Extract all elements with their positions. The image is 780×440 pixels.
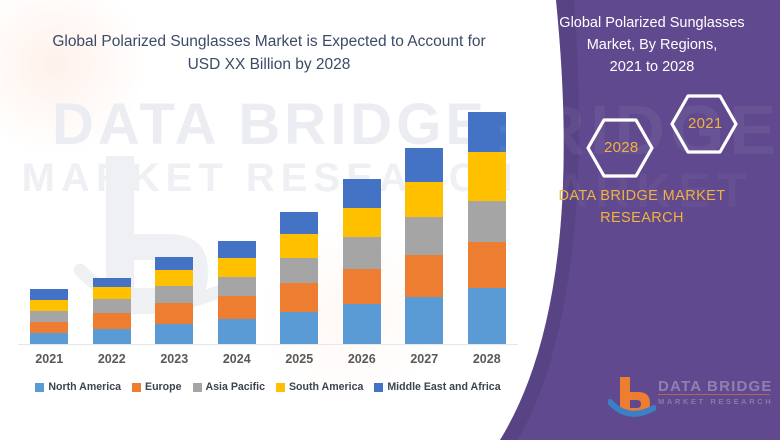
bar-column-2025 [268,212,330,344]
bar-segment [405,148,443,182]
chart-title: Global Polarized Sunglasses Market is Ex… [30,30,508,76]
bar-segment [343,304,381,344]
dbmr-logo-mark-icon [608,374,656,420]
bar-column-2022 [81,278,143,344]
hexagon-badge-group: 2021 2028 [530,92,770,182]
x-axis-tick-2021: 2021 [18,352,80,366]
bar-segment [155,270,193,286]
x-axis-tick-2027: 2027 [393,352,455,366]
legend-label: Europe [145,381,182,393]
footer-logo-divider [658,394,770,395]
bar-segment [343,208,381,237]
bar-column-2024 [206,241,268,344]
legend-label: South America [289,381,363,393]
legend-item[interactable]: South America [276,381,363,393]
bar-segment [155,286,193,303]
x-axis-tick-2024: 2024 [206,352,268,366]
legend-label: Asia Pacific [206,381,265,393]
plot-area [18,95,518,345]
x-axis-tick-2022: 2022 [81,352,143,366]
bar-segment [30,333,68,344]
chart-panel: DATA BRIDGE MARKET RESEARCH Global Polar… [0,0,540,440]
bar-segment [280,312,318,344]
bar-segment [30,322,68,333]
footer-logo-text: DATA BRIDGE [658,378,773,395]
bar-segment [280,258,318,283]
bar-column-2026 [331,179,393,344]
stacked-bar [218,241,256,344]
side-panel-title-line2: Market, By Regions, [536,34,768,56]
bar-segment [93,299,131,313]
bar-segment [30,311,68,322]
chart-title-line2: USD XX Billion by 2028 [30,53,508,76]
x-axis-labels: 20212022202320242025202620272028 [18,349,518,369]
chart-legend: North AmericaEuropeAsia PacificSouth Ame… [18,378,518,396]
bar-segment [280,212,318,234]
legend-swatch-icon [193,383,202,392]
bar-segment [30,300,68,311]
stacked-bar [280,212,318,344]
bar-segment [218,258,256,277]
bar-segment [405,255,443,297]
hexagon-badge-shapes-icon [530,92,770,182]
bar-segment [93,313,131,329]
legend-item[interactable]: North America [35,381,121,393]
stacked-bar [30,289,68,344]
legend-item[interactable]: Europe [132,381,182,393]
chart-title-line1: Global Polarized Sunglasses Market is Ex… [30,30,508,53]
stacked-bar [405,148,443,344]
bar-segment [155,303,193,324]
legend-swatch-icon [35,383,44,392]
bar-segment [405,217,443,255]
legend-label: North America [48,381,121,393]
side-panel-content: BRIDGE MARKET Global Polarized Sunglasse… [500,0,780,440]
infographic-root: DATA BRIDGE MARKET RESEARCH Global Polar… [0,0,780,440]
bar-segment [405,297,443,344]
bar-column-2027 [393,148,455,344]
bar-segment [218,277,256,296]
brand-name-line2: RESEARCH [520,207,764,229]
bar-segment [93,287,131,299]
bar-segment [155,324,193,344]
side-panel: BRIDGE MARKET Global Polarized Sunglasse… [500,0,780,440]
bar-segment [343,179,381,208]
x-axis-tick-2023: 2023 [143,352,205,366]
legend-swatch-icon [276,383,285,392]
bar-segment [93,278,131,287]
bar-segment [343,237,381,269]
x-axis-tick-2025: 2025 [268,352,330,366]
bar-segment [218,296,256,319]
bar-segment [93,329,131,344]
bar-segment [218,241,256,258]
x-axis-tick-2026: 2026 [331,352,393,366]
bar-column-2023 [143,257,205,344]
stacked-bar [343,179,381,344]
bar-segment [155,257,193,270]
bar-column-2021 [18,289,80,344]
bar-group [18,96,518,344]
brand-name-line1: DATA BRIDGE MARKET [520,185,764,207]
legend-label: Middle East and Africa [387,381,500,393]
bar-segment [280,283,318,312]
footer-logo: DATA BRIDGE MARKET RESEARCH [608,372,778,420]
side-panel-title-line1: Global Polarized Sunglasses [536,12,768,34]
bar-segment [218,319,256,344]
bar-segment [280,234,318,258]
axis-baseline [18,344,518,345]
legend-item[interactable]: Middle East and Africa [374,381,500,393]
legend-swatch-icon [374,383,383,392]
side-panel-title-line3: 2021 to 2028 [536,56,768,78]
stacked-bar [155,257,193,344]
brand-name: DATA BRIDGE MARKET RESEARCH [520,185,764,229]
hexagon-badge-label-2021: 2021 [688,115,723,132]
side-panel-title: Global Polarized Sunglasses Market, By R… [536,12,768,78]
bar-segment [343,269,381,304]
stacked-bar [93,278,131,344]
legend-item[interactable]: Asia Pacific [193,381,265,393]
hexagon-badge-label-2028: 2028 [604,139,639,156]
bar-segment [405,182,443,217]
bar-segment [30,289,68,300]
legend-swatch-icon [132,383,141,392]
footer-logo-subtext: MARKET RESEARCH [658,397,773,406]
